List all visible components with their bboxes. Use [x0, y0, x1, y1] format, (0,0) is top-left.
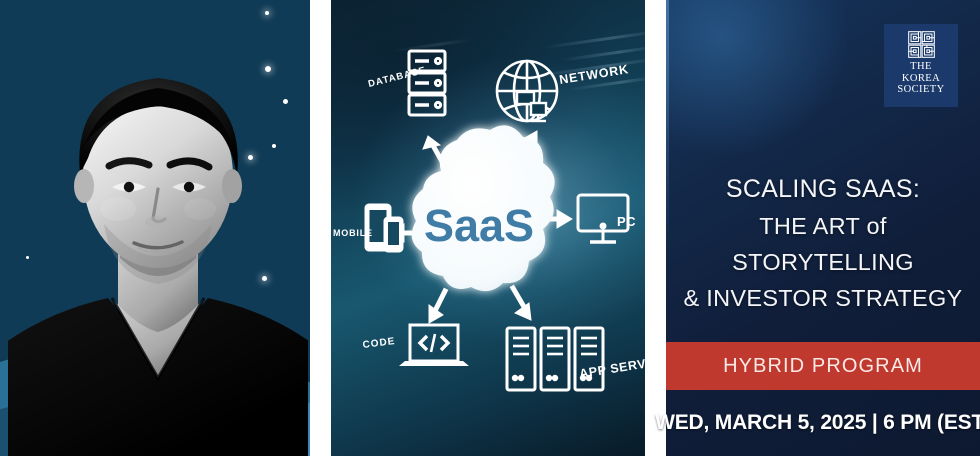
database-icon: [409, 51, 445, 115]
portrait-panel: [0, 0, 310, 456]
title-line-1: SCALING SAAS:: [666, 170, 980, 208]
korean-fret-pattern-icon: [908, 31, 935, 58]
logo-line-the: THE: [897, 61, 944, 73]
event-date-label: WED, MARCH 5, 2025 | 6 PM (EST): [655, 411, 980, 435]
logo-line-society: SOCIETY: [897, 84, 944, 96]
logo-line-korea: KOREA: [897, 73, 944, 85]
database-label: DATABASE: [367, 65, 427, 90]
title-line-3: & INVESTOR STRATEGY: [666, 280, 980, 316]
network-label: NETWORK: [558, 62, 630, 87]
mobile-label: MOBILE: [333, 228, 373, 238]
hybrid-program-label: HYBRID PROGRAM: [723, 355, 923, 378]
saas-center-label: SaaS: [424, 200, 534, 251]
event-poster: SaaS DATABASE: [0, 0, 980, 456]
code-brackets-icon: [399, 325, 469, 366]
korea-society-logo[interactable]: THE KOREA SOCIETY: [884, 24, 958, 107]
event-date-row: WED, MARCH 5, 2025 | 6 PM (EST): [666, 398, 980, 448]
app-server-label: APP SERVER: [578, 354, 645, 381]
title-line-2: THE ART of STORYTELLING: [666, 208, 980, 280]
code-label: CODE: [362, 336, 396, 351]
saas-diagram: SaaS DATABASE: [331, 0, 645, 456]
arrow-to-code: [429, 291, 445, 323]
arrow-to-app-server: [513, 288, 531, 320]
hybrid-program-badge: HYBRID PROGRAM: [666, 342, 980, 390]
speaker-photo: [8, 26, 308, 456]
star-dot: [265, 11, 269, 15]
pc-label: PC: [617, 214, 636, 229]
diagram-panel: SaaS DATABASE: [331, 0, 645, 456]
event-title: SCALING SAAS: THE ART of STORYTELLING & …: [666, 170, 980, 316]
server-rack-icon: [507, 328, 603, 390]
